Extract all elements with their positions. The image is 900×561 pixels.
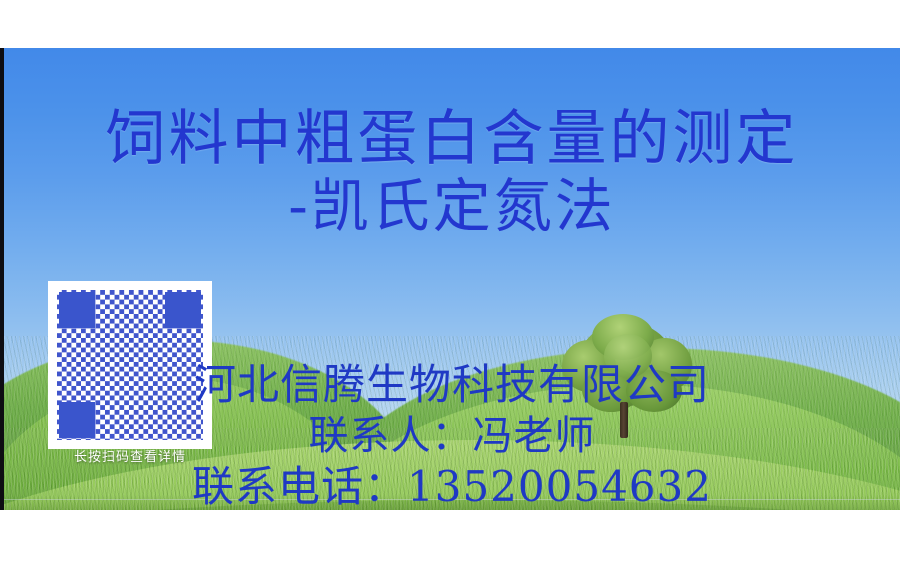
tree-foliage bbox=[604, 334, 652, 378]
qr-code-card[interactable] bbox=[48, 281, 212, 449]
qr-code-image[interactable] bbox=[57, 290, 203, 440]
tree-trunk bbox=[620, 402, 628, 438]
page-bottom-area bbox=[0, 510, 900, 561]
page-root: 饲料中粗蛋白含量的测定 -凯氏定氮法 长按扫码查看详情 河北信腾生物科技有限公司… bbox=[0, 0, 900, 561]
tree-icon bbox=[556, 314, 696, 442]
horizon-line bbox=[4, 499, 900, 500]
video-poster-frame[interactable]: 饲料中粗蛋白含量的测定 -凯氏定氮法 长按扫码查看详情 河北信腾生物科技有限公司… bbox=[4, 48, 900, 510]
qr-code-caption: 长按扫码查看详情 bbox=[48, 446, 212, 465]
